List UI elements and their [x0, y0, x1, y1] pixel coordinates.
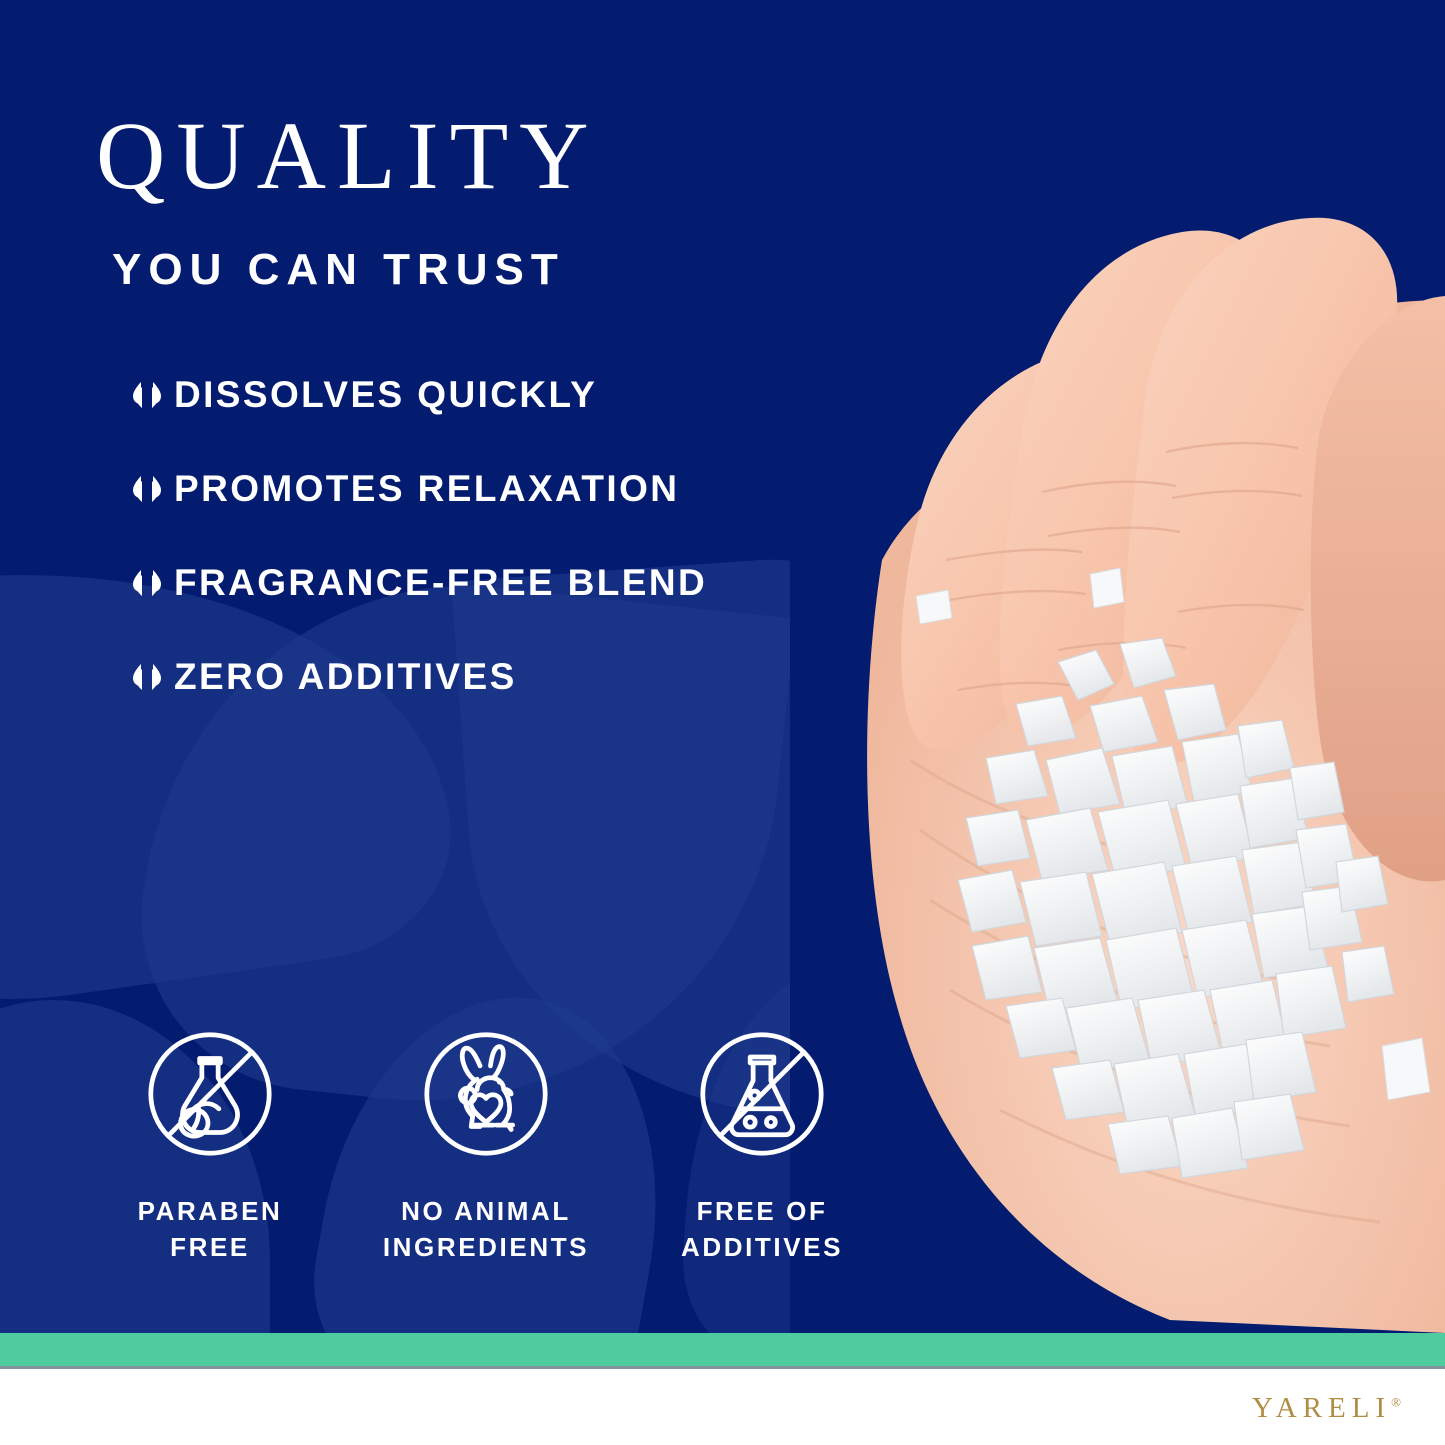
- page-subtitle: YOU CAN TRUST: [112, 245, 565, 295]
- accent-green-bar: [0, 1333, 1445, 1366]
- brand-name: YARELI: [1252, 1392, 1391, 1424]
- badge-no-animal-ingredients: NO ANIMAL INGREDIENTS: [348, 1020, 624, 1266]
- list-item: PROMOTES RELAXATION: [130, 442, 790, 536]
- list-item-label: DISSOLVES QUICKLY: [174, 374, 597, 416]
- droplet-pair-icon: [130, 567, 164, 599]
- badge-label: NO ANIMAL INGREDIENTS: [383, 1194, 589, 1266]
- badge-label: FREE OF ADDITIVES: [681, 1194, 843, 1266]
- list-item: DISSOLVES QUICKLY: [130, 348, 790, 442]
- list-item-label: FRAGRANCE-FREE BLEND: [174, 562, 707, 604]
- certification-badges: PARABEN FREE: [72, 1020, 902, 1266]
- list-item-label: ZERO ADDITIVES: [174, 656, 517, 698]
- badge-free-of-additives: FREE OF ADDITIVES: [624, 1020, 900, 1266]
- footer-bar: [0, 1369, 1445, 1445]
- list-item: FRAGRANCE-FREE BLEND: [130, 536, 790, 630]
- list-item: ZERO ADDITIVES: [130, 630, 790, 724]
- brand-wordmark: YARELI®: [1252, 1392, 1401, 1425]
- trademark-icon: ®: [1391, 1394, 1401, 1409]
- droplet-pair-icon: [130, 379, 164, 411]
- product-infographic: QUALITY YOU CAN TRUST DISSOLVES QUICKLY: [0, 0, 1445, 1445]
- badge-paraben-free: PARABEN FREE: [72, 1020, 348, 1266]
- list-item-label: PROMOTES RELAXATION: [174, 468, 679, 510]
- no-additives-flask-icon: [688, 1020, 836, 1168]
- navy-panel: QUALITY YOU CAN TRUST DISSOLVES QUICKLY: [0, 0, 1445, 1333]
- droplet-pair-icon: [130, 661, 164, 693]
- droplet-pair-icon: [130, 473, 164, 505]
- no-paraben-flask-icon: [136, 1020, 284, 1168]
- page-title: QUALITY: [96, 108, 600, 204]
- badge-label: PARABEN FREE: [138, 1194, 283, 1266]
- benefits-list: DISSOLVES QUICKLY PROMOTES RELAXATION: [130, 348, 790, 724]
- cruelty-free-rabbit-icon: [412, 1020, 560, 1168]
